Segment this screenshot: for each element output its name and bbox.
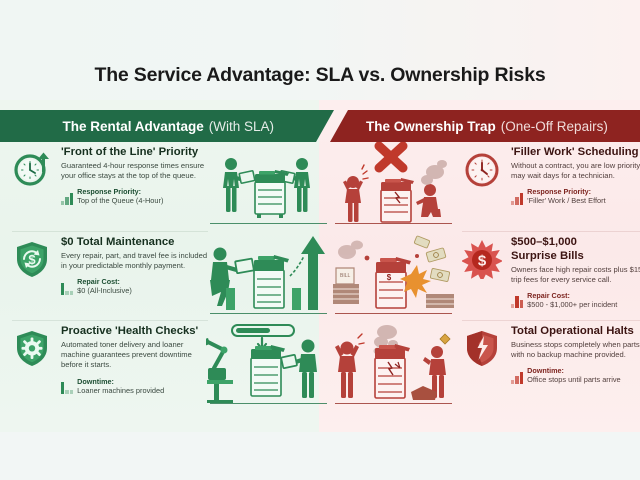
card-metric: Downtime: Loaner machines provided — [61, 377, 208, 395]
card-heading: Total Operational Halts — [511, 325, 640, 338]
card-proactive-health-checks: Proactive 'Health Checks' Automated tone… — [12, 320, 208, 409]
metric-label: Downtime: — [527, 366, 621, 375]
red-x-frustrated-workers-broken-copier-illustration — [331, 142, 456, 231]
ribbon-rental-advantage: The Rental Advantage (With SLA) — [0, 110, 334, 142]
dollar-burst-icon: $ — [462, 236, 504, 309]
metric-label: Repair Cost: — [77, 277, 132, 286]
card-body: Without a contract, you are low priority… — [511, 161, 640, 182]
ribbon-right-strong: The Ownership Trap — [366, 119, 496, 134]
ribbon-left-strong: The Rental Advantage — [62, 119, 203, 134]
svg-text:$: $ — [478, 253, 487, 270]
card-heading: $0 Total Maintenance — [61, 236, 208, 249]
metric-value: Top of the Queue (4-Hour) — [77, 196, 163, 205]
metric-value: $500 - $1,000+ per incident — [527, 300, 617, 309]
metric-label: Downtime: — [77, 377, 164, 386]
card-heading: 'Front of the Line' Priority — [61, 146, 208, 159]
card-metric: Repair Cost: $0 (All-Inclusive) — [61, 277, 208, 295]
ground-line — [210, 403, 327, 404]
smoking-copier-stressed-workers-illustration — [331, 322, 456, 411]
bar-chart-icon — [61, 192, 73, 206]
card-body: Every repair, part, and travel fee is in… — [61, 251, 208, 272]
card-body: Automated toner delivery and loaner mach… — [61, 340, 208, 371]
ribbon-left-light: (With SLA) — [209, 119, 274, 134]
metric-label: Response Priority: — [527, 187, 606, 196]
card-surprise-bills: $ $500–$1,000 Surprise Bills Owners face… — [462, 231, 640, 320]
card-front-of-the-line: 'Front of the Line' Priority Guaranteed … — [12, 142, 208, 231]
bar-chart-icon — [511, 295, 523, 309]
card-metric: Repair Cost: $500 - $1,000+ per incident — [511, 291, 640, 309]
card-heading-line2: Surprise Bills — [511, 250, 640, 263]
svg-text:$: $ — [28, 252, 36, 267]
card-total-operational-halts: Total Operational Halts Business stops c… — [462, 320, 640, 409]
bar-chart-icon — [511, 371, 523, 385]
ground-line — [335, 313, 452, 314]
two-workers-at-copier-illustration — [206, 142, 331, 231]
card-zero-total-maintenance: $ $0 Total Maintenance Every repair, par… — [12, 231, 208, 320]
bar-chart-icon — [61, 282, 73, 296]
metric-value: Office stops until parts arrive — [527, 375, 621, 384]
infographic-canvas: The Service Advantage: SLA vs. Ownership… — [0, 0, 640, 432]
metric-label: Repair Cost: — [527, 291, 617, 300]
svg-text:$: $ — [387, 273, 392, 282]
ground-line — [335, 403, 452, 404]
card-body: Guaranteed 4-hour response times ensure … — [61, 161, 208, 182]
ground-line — [210, 223, 327, 224]
card-body: Owners face high repair costs plus $150 … — [511, 265, 640, 286]
ribbon-right-light: (One-Off Repairs) — [501, 119, 608, 134]
shield-dollar-refresh-icon: $ — [12, 236, 54, 296]
right-column: 'Filler Work' Scheduling Without a contr… — [462, 142, 640, 409]
card-metric: Response Priority: 'Filler' Work / Best … — [511, 187, 640, 205]
broken-shield-icon — [462, 325, 504, 385]
metric-value: Loaner machines provided — [77, 386, 164, 395]
alarm-clock-icon — [462, 146, 504, 206]
ribbon-ownership-trap: The Ownership Trap (One-Off Repairs) — [330, 110, 640, 142]
illustration-strip: BILL $ — [206, 142, 456, 432]
card-filler-work-scheduling: 'Filler Work' Scheduling Without a contr… — [462, 142, 640, 231]
card-heading: Proactive 'Health Checks' — [61, 325, 208, 338]
card-body: Business stops completely when parts fai… — [511, 340, 640, 361]
ground-line — [335, 223, 452, 224]
svg-text:BILL: BILL — [340, 273, 351, 279]
metric-value: 'Filler' Work / Best Effort — [527, 196, 606, 205]
left-column: 'Front of the Line' Priority Guaranteed … — [12, 142, 208, 409]
metric-value: $0 (All-Inclusive) — [77, 286, 132, 295]
exploding-copier-money-bills-illustration: BILL $ — [331, 232, 456, 321]
card-heading-line1: $500–$1,000 — [511, 236, 640, 249]
bar-chart-icon — [61, 381, 73, 395]
card-metric: Response Priority: Top of the Queue (4-H… — [61, 187, 208, 205]
ground-line — [210, 313, 327, 314]
clock-arrow-icon — [12, 146, 54, 206]
page-title: The Service Advantage: SLA vs. Ownership… — [0, 64, 640, 87]
bar-chart-icon — [511, 192, 523, 206]
robot-arm-automated-toner-delivery-illustration — [206, 322, 331, 411]
section-ribbons: The Rental Advantage (With SLA) The Owne… — [0, 110, 640, 142]
card-heading: 'Filler Work' Scheduling — [511, 146, 640, 159]
worker-with-laptop-growth-arrow-illustration — [206, 232, 331, 321]
shield-gear-icon — [12, 325, 54, 395]
metric-label: Response Priority: — [77, 187, 163, 196]
card-metric: Downtime: Office stops until parts arriv… — [511, 366, 640, 384]
